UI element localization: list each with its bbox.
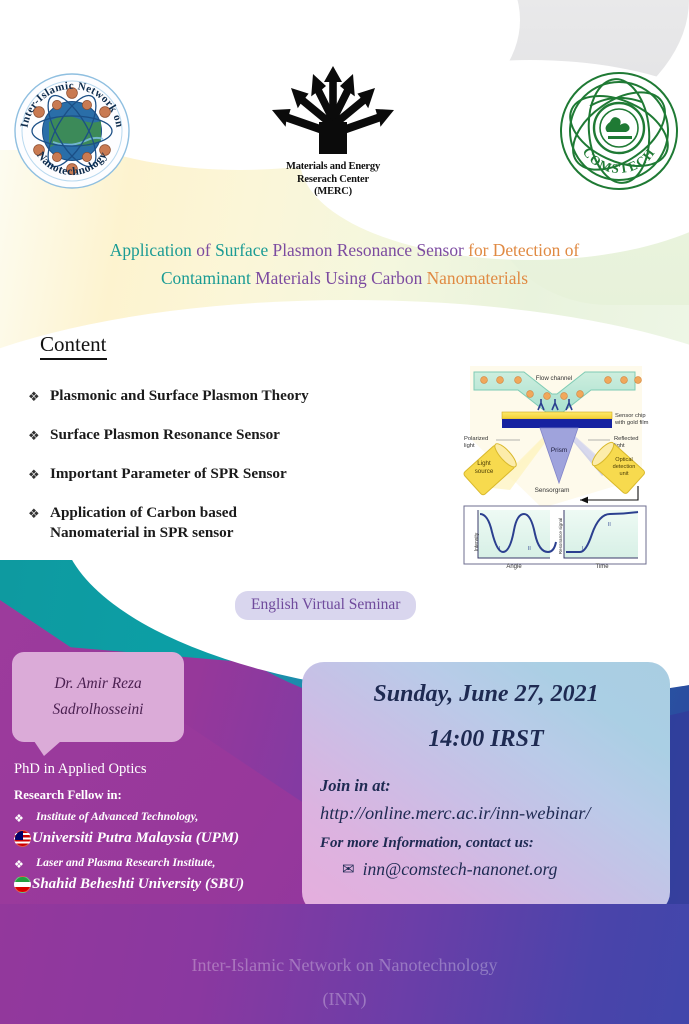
content-item-text: Application of Carbon based Nanomaterial… (50, 503, 237, 542)
flag-iran-icon (14, 876, 31, 893)
affiliation-sub: Laser and Plasma Research Institute, (36, 854, 215, 872)
speaker-degree: PhD in Applied Optics (14, 758, 314, 780)
svg-text:I: I (582, 546, 583, 552)
envelope-icon: ✉ (342, 860, 355, 879)
content-list-item: ❖ Plasmonic and Surface Plasmon Theory (28, 386, 448, 406)
comstech-logo-icon: COMSTECH (556, 70, 682, 192)
merc-label-line1: Materials and Energy (258, 161, 408, 174)
svg-text:light: light (464, 443, 475, 449)
speaker-name-line1: Dr. Amir Reza (54, 671, 141, 697)
poster-canvas: Inter-Islamic Network on Nanotechnology … (0, 0, 689, 1024)
flag-malaysia-icon (14, 830, 31, 847)
svg-text:source: source (475, 468, 494, 475)
footer-line1: Inter-Islamic Network on Nanotechnology (0, 948, 689, 982)
join-label: Join in at: (320, 776, 670, 796)
title-word-application: Application (110, 240, 196, 260)
label-polarized-light: Polarized (464, 436, 488, 442)
affiliation-main-row: Universiti Putra Malaysia (UPM) (14, 827, 314, 850)
diamond-bullet-icon: ❖ (28, 503, 50, 523)
affiliation-main: Universiti Putra Malaysia (UPM) (32, 827, 239, 850)
inn-logo-icon: Inter-Islamic Network on Nanotechnology (13, 72, 131, 190)
label-optical-detection-unit: Optical (615, 457, 632, 463)
title-words-plasmon-resonance-sensor: Plasmon Resonance Sensor (273, 240, 469, 260)
content-heading: Content (40, 332, 107, 360)
content-list-item: ❖ Surface Plasmon Resonance Sensor (28, 425, 448, 445)
speaker-name-bubble: Dr. Amir Reza Sadrolhosseini (12, 652, 184, 742)
more-information-label: For more Information, contact us: (320, 835, 670, 852)
content-list: ❖ Plasmonic and Surface Plasmon Theory ❖… (28, 386, 448, 561)
affiliation-main: Shahid Beheshti University (SBU) (32, 873, 244, 896)
diamond-bullet-icon: ❖ (14, 854, 36, 871)
footer-watermark: Inter-Islamic Network on Nanotechnology … (0, 948, 689, 1016)
research-fellow-label: Research Fellow in: (14, 785, 314, 805)
footer-line2: (INN) (0, 982, 689, 1016)
merc-logo: Materials and Energy Reserach Center (ME… (258, 62, 408, 192)
speaker-name-line2: Sadrolhosseini (53, 697, 144, 723)
svg-text:detection: detection (613, 464, 636, 470)
affiliation-main-row: Shahid Beheshti University (SBU) (14, 873, 314, 896)
content-item-text: Surface Plasmon Resonance Sensor (50, 425, 280, 445)
label-flow-channel: Flow channel (536, 375, 572, 382)
event-info-panel: Sunday, June 27, 2021 14:00 IRST Join in… (302, 662, 670, 914)
spr-diagram-icon: Flow channel Sensor chip with gold film (452, 358, 657, 576)
content-list-item: ❖ Important Parameter of SPR Sensor (28, 464, 448, 484)
label-prism: Prism (551, 447, 567, 454)
curve-mark-1: I (499, 546, 500, 552)
axis-time: Time (595, 564, 609, 570)
diamond-bullet-icon: ❖ (28, 464, 50, 484)
inn-logo: Inter-Islamic Network on Nanotechnology (13, 72, 131, 190)
content-list-item: ❖ Application of Carbon based Nanomateri… (28, 503, 448, 542)
svg-text:unit: unit (619, 471, 628, 477)
affiliation-row: ❖ Institute of Advanced Technology, (14, 808, 314, 826)
curve-mark-2: II (528, 546, 531, 552)
label-sensor-chip: Sensor chip (615, 413, 646, 419)
page-title-line2: Contaminant Materials Using Carbon Nanom… (8, 264, 681, 292)
contact-email[interactable]: inn@comstech-nanonet.org (363, 859, 558, 880)
merc-label-line2: Reserach Center (258, 174, 408, 187)
webinar-url-link[interactable]: http://online.merc.ac.ir/inn-webinar/ (320, 803, 670, 824)
event-time: 14:00 IRST (302, 726, 670, 753)
label-reflected-light: Reflected (614, 436, 639, 442)
affiliation-row: ❖ Laser and Plasma Research Institute, (14, 854, 314, 872)
title-word-nanomaterials: Nanomaterials (427, 268, 528, 288)
svg-text:with gold film: with gold film (614, 420, 649, 426)
diamond-bullet-icon: ❖ (28, 386, 50, 406)
content-item-text: Important Parameter of SPR Sensor (50, 464, 287, 484)
page-title: Application of Surface Plasmon Resonance… (8, 236, 681, 292)
title-word-surface: Surface (215, 240, 272, 260)
page-title-line1: Application of Surface Plasmon Resonance… (8, 236, 681, 264)
event-date: Sunday, June 27, 2021 (302, 681, 670, 708)
diamond-bullet-icon: ❖ (14, 808, 36, 825)
title-words-for-detection-of: for Detection of (468, 240, 579, 260)
svg-text:II: II (608, 522, 611, 528)
title-words-materials-using-carbon: Materials Using Carbon (255, 268, 426, 288)
axis-angle: Angle (506, 564, 522, 570)
speaker-credentials: PhD in Applied Optics Research Fellow in… (14, 758, 314, 900)
merc-crown-icon (258, 62, 408, 156)
axis-intensity: Intensity (474, 532, 480, 551)
spr-sensor-diagram: Flow channel Sensor chip with gold film (452, 358, 657, 576)
content-item-text: Plasmonic and Surface Plasmon Theory (50, 386, 309, 406)
affiliation-sub: Institute of Advanced Technology, (36, 808, 198, 826)
title-word-of: of (196, 240, 215, 260)
axis-resonance: Resonance signal (558, 518, 563, 555)
merc-label-line3: (MERC) (258, 186, 408, 199)
diamond-bullet-icon: ❖ (28, 425, 50, 445)
title-word-contaminant: Contaminant (161, 268, 255, 288)
label-light-source: Light (477, 460, 491, 467)
contact-email-row[interactable]: ✉ inn@comstech-nanonet.org (342, 859, 670, 880)
label-sensorgram: Sensorgram (535, 487, 570, 494)
english-virtual-seminar-badge: English Virtual Seminar (235, 591, 416, 620)
comstech-logo: COMSTECH (556, 70, 682, 192)
